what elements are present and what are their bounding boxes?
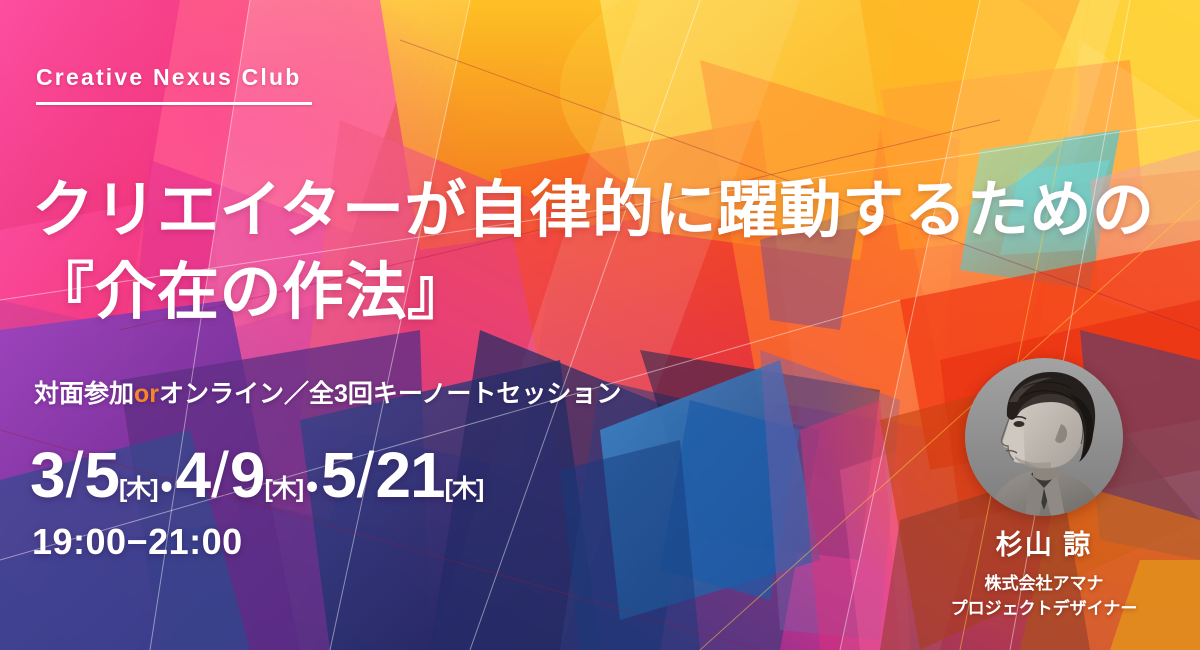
speaker-name: 杉山 諒 <box>913 532 1175 559</box>
date-1-dow: [木] <box>119 475 158 503</box>
date-item-1: 3/5[木] <box>30 484 158 501</box>
date-item-3: 5/21[木] <box>321 484 483 501</box>
page-title: クリエイターが自律的に躍動するための 『介在の作法』 <box>32 170 1052 335</box>
headline-line-1: クリエイターが自律的に躍動するための <box>32 176 1155 245</box>
date-list: 3/5[木]・4/9[木]・5/21[木] <box>30 443 483 507</box>
date-2-slash: / <box>210 439 230 511</box>
date-separator-1: ・ <box>158 466 176 505</box>
date-separator-2: ・ <box>303 466 321 505</box>
speaker-block: 杉山 諒 株式会社アマナ プロジェクトデザイナー <box>913 358 1175 621</box>
eyebrow-block: Creative Nexus Club <box>36 66 556 105</box>
speaker-role: プロジェクトデザイナー <box>913 597 1175 622</box>
avatar <box>965 358 1123 516</box>
date-1-day: 5 <box>84 439 119 511</box>
banner-content: Creative Nexus Club クリエイターが自律的に躍動するための 『… <box>0 0 1200 650</box>
format-block: 対面参加orオンライン／全3回キーノートセッション <box>34 382 794 407</box>
date-2-day: 9 <box>230 439 265 511</box>
format-highlight: or <box>134 380 159 408</box>
date-item-2: 4/9[木] <box>176 484 304 501</box>
speaker-portrait-icon <box>965 358 1123 516</box>
event-time: 19:00−21:00 <box>32 524 243 560</box>
date-2-dow: [木] <box>265 475 304 503</box>
speaker-organization: 株式会社アマナ <box>913 572 1175 597</box>
date-1-slash: / <box>65 439 85 511</box>
date-2-month: 4 <box>176 439 211 511</box>
format-suffix: オンライン／全3回キーノートセッション <box>159 380 621 408</box>
headline-line-2: 『介在の作法』 <box>32 252 1052 334</box>
format-line: 対面参加orオンライン／全3回キーノートセッション <box>34 382 794 407</box>
event-banner: Creative Nexus Club クリエイターが自律的に躍動するための 『… <box>0 0 1200 650</box>
date-1-month: 3 <box>30 439 65 511</box>
format-prefix: 対面参加 <box>34 380 134 408</box>
series-title: Creative Nexus Club <box>36 66 556 89</box>
eyebrow-divider <box>36 102 312 105</box>
date-3-dow: [木] <box>445 475 484 503</box>
date-3-day: 21 <box>375 439 444 511</box>
date-3-slash: / <box>356 439 376 511</box>
date-3-month: 5 <box>321 439 356 511</box>
